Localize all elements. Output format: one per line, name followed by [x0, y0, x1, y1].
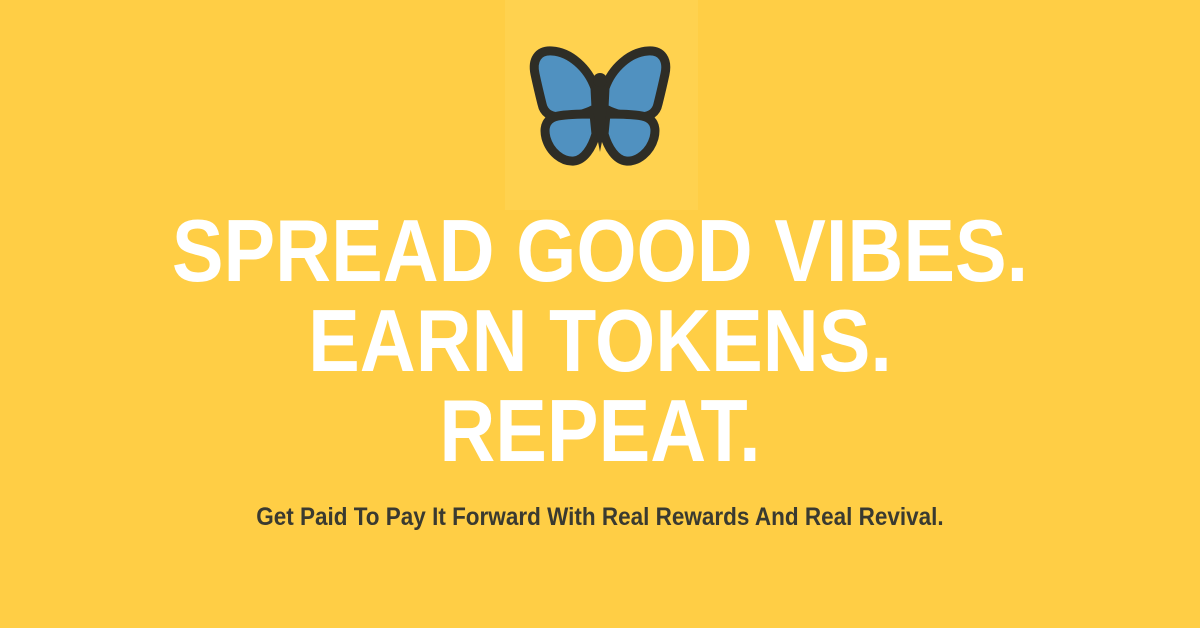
promo-banner: SPREAD GOOD VIBES. EARN TOKENS. REPEAT. … — [0, 0, 1200, 628]
subtitle-text: Get Paid To Pay It Forward With Real Rew… — [256, 502, 943, 532]
headline: SPREAD GOOD VIBES. EARN TOKENS. REPEAT. — [0, 206, 1200, 476]
headline-line-2: EARN TOKENS. — [72, 296, 1128, 386]
headline-line-1: SPREAD GOOD VIBES. — [72, 206, 1128, 296]
butterfly-icon — [526, 44, 674, 170]
subtitle: Get Paid To Pay It Forward With Real Rew… — [0, 502, 1200, 532]
headline-line-3: REPEAT. — [72, 386, 1128, 476]
logo-container — [0, 44, 1200, 170]
